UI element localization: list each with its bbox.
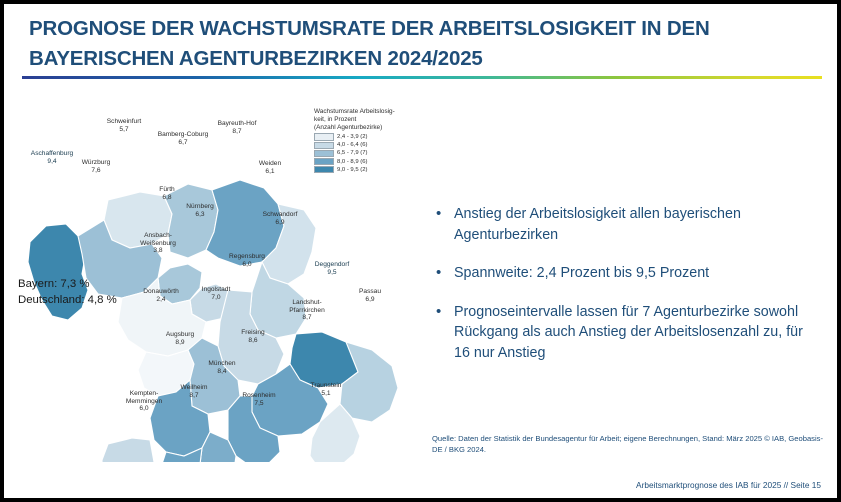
bullet-dot-icon: • — [432, 302, 454, 364]
key-finding-item: •Spannweite: 2,4 Prozent bis 9,5 Prozent — [432, 263, 822, 284]
legend-entry: 9,0 - 9,5 (2) — [314, 166, 434, 174]
legend-entries: 2,4 - 3,9 (2)4,0 - 6,4 (6)6,5 - 7,9 (7)8… — [314, 133, 434, 173]
key-finding-item: •Prognoseintervalle lassen für 7 Agentur… — [432, 302, 822, 364]
legend-title-line-2: keit, in Prozent — [314, 116, 434, 124]
legend-swatch — [314, 150, 334, 157]
bullet-dot-icon: • — [432, 204, 454, 245]
map-legend: Wachstumsrate Arbeitslosig- keit, in Pro… — [314, 108, 434, 174]
source-note: Quelle: Daten der Statistik der Bundesag… — [432, 434, 824, 455]
legend-entry-label: 4,0 - 6,4 (6) — [337, 142, 367, 148]
key-finding-text: Spannweite: 2,4 Prozent bis 9,5 Prozent — [454, 263, 822, 284]
key-findings-list: •Anstieg der Arbeitslosigkeit allen baye… — [432, 204, 822, 381]
national-reference-values: Bayern: 7,3 % Deutschland: 4,8 % — [18, 276, 117, 308]
legend-swatch — [314, 142, 334, 149]
legend-entry-label: 8,0 - 8,9 (6) — [337, 159, 367, 165]
map-region-schweinfurt[interactable] — [104, 192, 172, 248]
key-finding-text: Prognoseintervalle lassen für 7 Agenturb… — [454, 302, 822, 364]
legend-entry: 2,4 - 3,9 (2) — [314, 133, 434, 141]
legend-entry-label: 9,0 - 9,5 (2) — [337, 167, 367, 173]
slide-canvas: PROGNOSE DER WACHSTUMSRATE DER ARBEITSLO… — [4, 4, 837, 498]
legend-swatch — [314, 166, 334, 173]
title-divider-gradient — [22, 76, 822, 79]
key-finding-item: •Anstieg der Arbeitslosigkeit allen baye… — [432, 204, 822, 245]
legend-entry: 4,0 - 6,4 (6) — [314, 141, 434, 149]
title-line-1: PROGNOSE DER WACHSTUMSRATE DER ARBEITSLO… — [29, 17, 710, 40]
value-deutschland: Deutschland: 4,8 % — [18, 292, 117, 308]
slide-footer: Arbeitsmarktprognose des IAB für 2025 //… — [636, 480, 821, 490]
legend-title-line-3: (Anzahl Agenturbezirke) — [314, 124, 434, 132]
legend-entry-label: 6,5 - 7,9 (7) — [337, 150, 367, 156]
legend-title-line-1: Wachstumsrate Arbeitslosig- — [314, 108, 434, 116]
value-bayern: Bayern: 7,3 % — [18, 276, 117, 292]
legend-swatch — [314, 158, 334, 165]
legend-swatch — [314, 133, 334, 140]
key-finding-text: Anstieg der Arbeitslosigkeit allen bayer… — [454, 204, 822, 245]
title-line-2: BAYERISCHEN AGENTURBEZIRKEN 2024/2025 — [29, 44, 819, 74]
bullet-dot-icon: • — [432, 263, 454, 284]
page-title: PROGNOSE DER WACHSTUMSRATE DER ARBEITSLO… — [29, 14, 819, 74]
legend-entry: 8,0 - 8,9 (6) — [314, 158, 434, 166]
legend-entry: 6,5 - 7,9 (7) — [314, 150, 434, 158]
legend-entry-label: 2,4 - 3,9 (2) — [337, 134, 367, 140]
